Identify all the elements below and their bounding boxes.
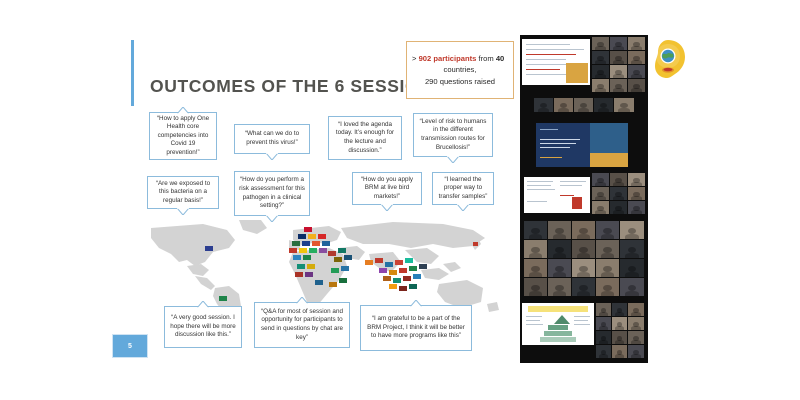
quote-tail-icon	[381, 204, 393, 211]
quote-text: “How do you perform a risk assessment fo…	[239, 176, 305, 210]
zoom-meeting-montage	[520, 35, 648, 363]
quote-bubble: “How do you apply BRM at live bird marke…	[352, 172, 422, 205]
quote-tail-icon	[457, 204, 469, 211]
shared-screen-document	[522, 39, 590, 85]
stats-countries-label: countries,	[412, 64, 508, 76]
quote-bubble: “I loved the agenda today. It’s enough f…	[328, 116, 402, 160]
quote-bubble: “I learned the proper way to transfer sa…	[432, 172, 494, 205]
quote-bubble: “A very good session. I hope there will …	[164, 306, 242, 348]
quote-bubble: “Are we exposed to this bacteria on a re…	[147, 176, 219, 209]
quote-tail-icon	[296, 297, 308, 304]
shared-document-panel	[524, 177, 590, 213]
quote-tail-icon	[177, 107, 189, 114]
quote-bubble: “What can we do to prevent this virus!”	[234, 124, 310, 154]
quote-tail-icon	[177, 208, 189, 215]
quote-bubble: “Level of risk to humans in the differen…	[413, 113, 493, 157]
quote-bubble: “I am grateful to be a part of the BRM P…	[360, 305, 472, 351]
speaker-filmstrip	[534, 98, 634, 112]
stats-line-participants: > 902 participants from 40	[412, 53, 508, 65]
quote-text: “I am grateful to be a part of the BRM P…	[365, 315, 467, 341]
quote-text: “How do you apply BRM at live bird marke…	[357, 176, 417, 202]
quote-tail-icon	[410, 300, 422, 307]
quote-text: “Are we exposed to this bacteria on a re…	[152, 180, 214, 206]
participant-gallery-grid	[592, 173, 646, 215]
quote-bubble: “Q&A for most of session and opportunity…	[254, 302, 350, 348]
quote-text: “Q&A for most of session and opportunity…	[259, 308, 345, 342]
quote-text: “A very good session. I hope there will …	[169, 314, 237, 340]
page-title: OUTCOMES OF THE 6 SESSIONS	[150, 76, 445, 97]
participant-gallery-grid	[596, 303, 646, 361]
quote-bubble: “How to apply One Health core competenci…	[149, 112, 217, 160]
quote-text: “I learned the proper way to transfer sa…	[437, 176, 489, 202]
participant-gallery-grid	[592, 37, 646, 95]
title-accent-bar	[131, 40, 134, 106]
quote-bubble: “How do you perform a risk assessment fo…	[234, 171, 310, 216]
quote-text: “Level of risk to humans in the differen…	[418, 118, 488, 152]
quote-tail-icon	[447, 156, 459, 163]
presentation-slide: OUTCOMES OF THE 6 SESSIONS > 902 partici…	[0, 0, 800, 400]
stats-callout: > 902 participants from 40 countries, 29…	[406, 41, 514, 99]
quote-text: “How to apply One Health core competenci…	[154, 115, 212, 158]
stats-from-label: from	[479, 54, 494, 63]
organization-logo	[648, 38, 688, 80]
quote-tail-icon	[266, 153, 278, 160]
stats-participants-value: 902 participants	[419, 54, 477, 63]
pyramid-diagram-slide	[522, 303, 594, 345]
participant-gallery-grid	[524, 221, 646, 299]
quote-text: “What can we do to prevent this virus!”	[239, 130, 305, 147]
quote-tail-icon	[197, 301, 209, 308]
slide-number: 5	[112, 334, 148, 358]
quote-text: “I loved the agenda today. It’s enough f…	[333, 121, 397, 155]
stats-arrow: >	[412, 54, 416, 63]
stats-countries-value: 40	[496, 54, 504, 63]
presentation-title-slide	[536, 123, 628, 167]
quote-tail-icon	[266, 215, 278, 222]
stats-questions-line: 290 questions raised	[412, 76, 508, 88]
